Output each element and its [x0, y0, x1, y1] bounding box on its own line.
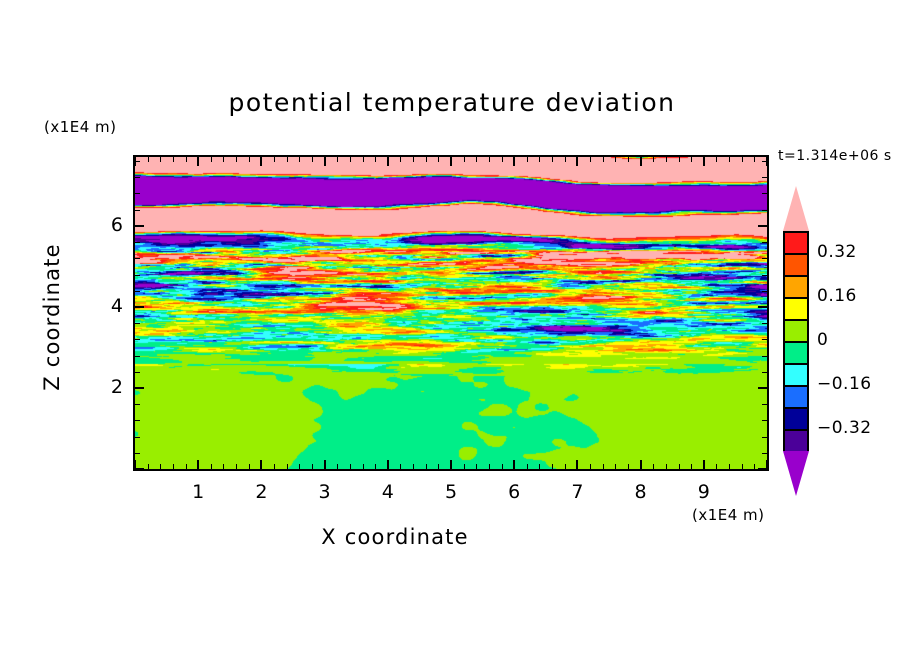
chart-title: potential temperature deviation	[0, 88, 904, 117]
colorbar-tick-label: 0.32	[817, 242, 857, 262]
colorbar-bands	[783, 231, 809, 451]
x-tick-label: 4	[368, 481, 408, 503]
x-tick-label: 3	[305, 481, 345, 503]
y-axis-unit-label: (x1E4 m)	[44, 118, 117, 136]
colorbar-band	[785, 387, 807, 409]
x-tick-label: 1	[178, 481, 218, 503]
colorbar-band	[785, 321, 807, 343]
y-tick-label: 2	[83, 376, 123, 398]
colorbar-top-arrow	[783, 186, 809, 231]
colorbar-tick-label: 0.16	[817, 286, 857, 306]
colorbar-band	[785, 365, 807, 387]
colorbar-band	[785, 431, 807, 453]
x-tick-label: 5	[431, 481, 471, 503]
x-tick-label: 2	[241, 481, 281, 503]
x-tick-label: 6	[494, 481, 534, 503]
colorbar-band	[785, 343, 807, 365]
x-tick-label: 8	[621, 481, 661, 503]
x-tick-label: 9	[684, 481, 724, 503]
colorbar-band	[785, 299, 807, 321]
colorbar-band	[785, 255, 807, 277]
colorbar: 0.320.160−0.16−0.32	[783, 186, 809, 496]
x-axis-title: X coordinate	[0, 525, 790, 549]
colorbar-band	[785, 277, 807, 299]
y-tick-label: 4	[83, 295, 123, 317]
colorbar-bottom-arrow	[783, 451, 809, 496]
colorbar-tick-label: 0	[817, 330, 828, 350]
colorbar-tick-label: −0.16	[817, 374, 872, 394]
contour-field-canvas	[135, 157, 767, 469]
y-axis-title: Z coordinate	[40, 207, 64, 427]
x-tick-label: 7	[557, 481, 597, 503]
y-tick-label: 6	[83, 214, 123, 236]
colorbar-band	[785, 409, 807, 431]
x-axis-unit-label: (x1E4 m)	[692, 506, 765, 524]
colorbar-tick-label: −0.32	[817, 418, 872, 438]
time-annotation: t=1.314e+06 s	[778, 148, 892, 164]
colorbar-band	[785, 233, 807, 255]
contour-plot-area	[133, 155, 769, 471]
